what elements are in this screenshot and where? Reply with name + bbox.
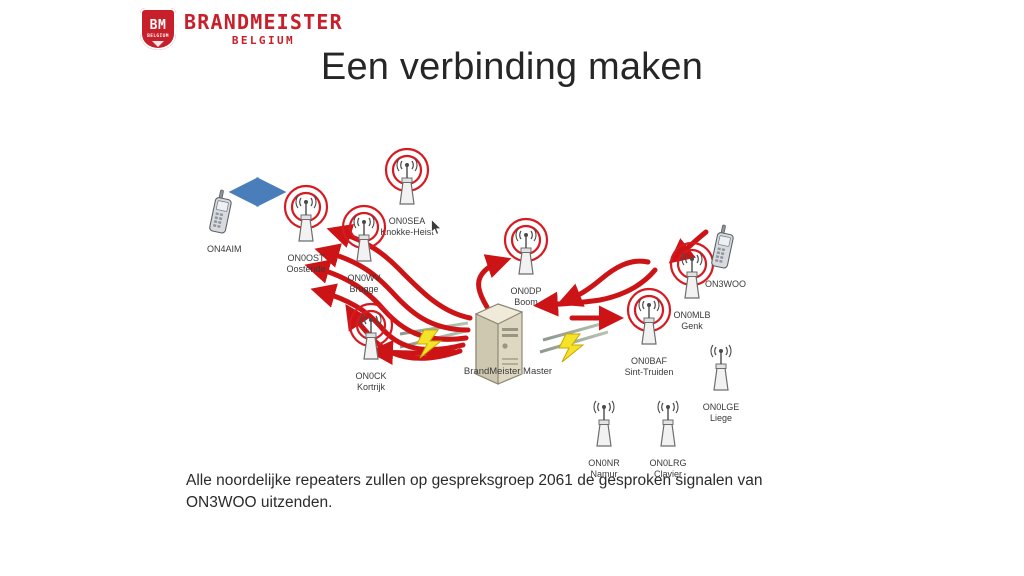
node-location: Kortrijk bbox=[337, 382, 405, 393]
node-label: ON4AIM bbox=[207, 244, 242, 255]
node-on0lrg[interactable]: ON0LRGClavier bbox=[634, 390, 702, 481]
node-label: ON0WVBrugge bbox=[330, 273, 398, 296]
node-location: Brugge bbox=[330, 284, 398, 295]
node-label: ON0CKKortrijk bbox=[337, 371, 405, 394]
node-on3woo[interactable]: ON3WOO bbox=[705, 223, 746, 290]
slide-caption: Alle noordelijke repeaters zullen op ges… bbox=[186, 470, 766, 515]
repeater-tower-icon bbox=[330, 205, 398, 272]
mouse-cursor bbox=[431, 219, 443, 236]
node-label: ON0DPBoom bbox=[492, 286, 560, 309]
repeater-tower-icon bbox=[337, 303, 405, 370]
repeater-tower-icon bbox=[492, 218, 560, 285]
repeater-tower-icon bbox=[634, 390, 702, 457]
node-on0nr[interactable]: ON0NRNamur bbox=[570, 390, 638, 481]
repeater-tower-icon bbox=[570, 390, 638, 457]
node-label: ON0BAFSint-Truiden bbox=[615, 356, 683, 379]
node-callsign: ON0BAF bbox=[631, 356, 667, 366]
handheld-radio-icon bbox=[705, 223, 746, 278]
node-callsign: ON0LRG bbox=[649, 458, 686, 468]
node-on0dp[interactable]: ON0DPBoom bbox=[492, 218, 560, 309]
node-callsign: ON0OST bbox=[287, 253, 324, 263]
node-callsign: ON0CK bbox=[355, 371, 386, 381]
node-on4aim[interactable]: ON4AIM bbox=[207, 188, 242, 255]
node-callsign: ON3WOO bbox=[705, 279, 746, 289]
node-location: Sint-Truiden bbox=[615, 367, 683, 378]
node-location: Boom bbox=[492, 297, 560, 308]
node-callsign: ON0NR bbox=[588, 458, 620, 468]
node-callsign: ON0DP bbox=[510, 286, 541, 296]
node-callsign: ON4AIM bbox=[207, 244, 242, 254]
node-on0ck[interactable]: ON0CKKortrijk bbox=[337, 303, 405, 394]
node-on0baf[interactable]: ON0BAFSint-Truiden bbox=[615, 288, 683, 379]
repeater-tower-icon bbox=[615, 288, 683, 355]
server-label: BrandMeister Master bbox=[418, 366, 598, 377]
node-callsign: ON0LGE bbox=[703, 402, 740, 412]
node-callsign: ON0WV bbox=[347, 273, 380, 283]
node-on0wv[interactable]: ON0WVBrugge bbox=[330, 205, 398, 296]
node-label: ON3WOO bbox=[705, 279, 746, 290]
handheld-radio-icon bbox=[207, 188, 242, 243]
slide-canvas: BM BELGIUM BRANDMEISTER BELGIUM Een verb… bbox=[0, 0, 1024, 576]
